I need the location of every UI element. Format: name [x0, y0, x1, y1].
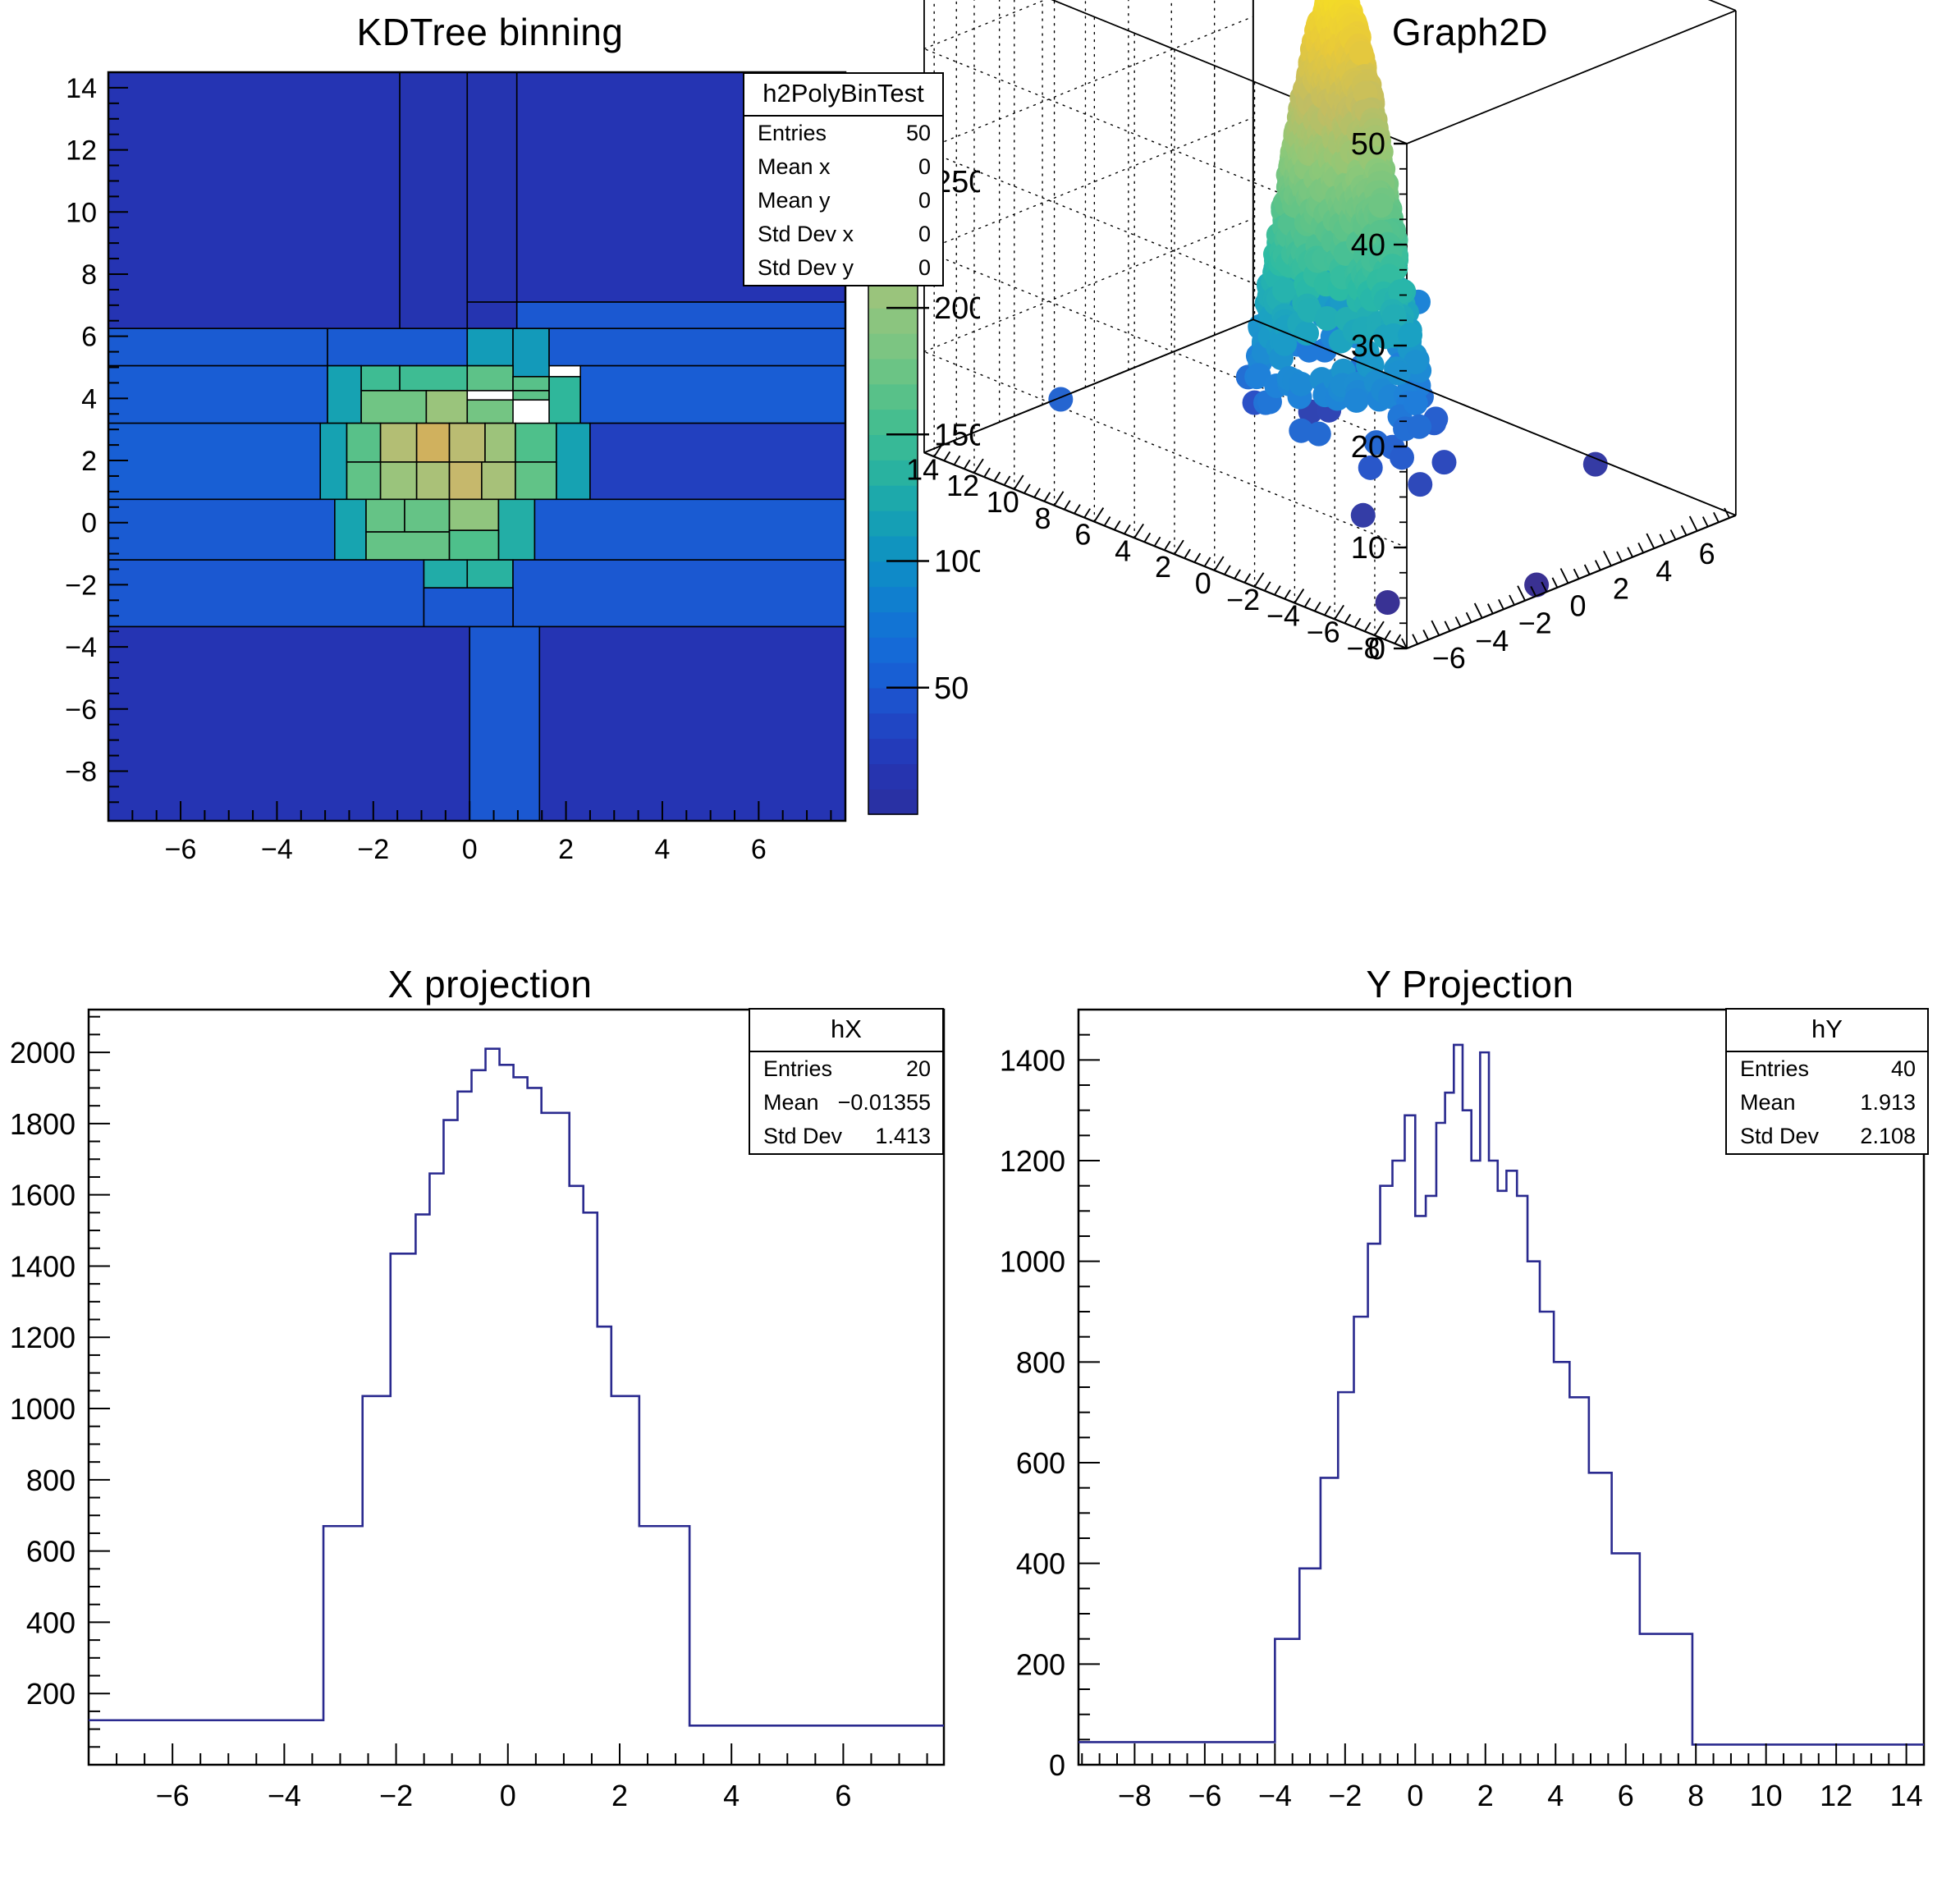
- axis-tick-label: 30: [1351, 329, 1385, 364]
- stats-value: 40: [1891, 1056, 1916, 1082]
- axis-tick-label: 1200: [10, 1321, 76, 1354]
- scatter-point: [1407, 415, 1431, 439]
- stats-row: Std Dev2.108: [1727, 1120, 1927, 1153]
- axis-tick-label: 14: [906, 452, 939, 486]
- kdtree-bin[interactable]: [400, 72, 467, 328]
- axis-tick-label: 6: [1699, 537, 1715, 570]
- kdtree-bin[interactable]: [513, 391, 549, 400]
- palette-tick-label: 150: [934, 418, 986, 452]
- kdtree-bin[interactable]: [347, 424, 381, 462]
- axis-tick-label: 1000: [10, 1392, 76, 1426]
- stats-key: Std Dev x: [758, 222, 854, 247]
- kdtree-bin[interactable]: [424, 588, 513, 626]
- y-axis: 200400600800100012001400160018002000: [10, 1017, 110, 1765]
- kdtree-bin[interactable]: [450, 499, 499, 530]
- axis-tick-label: −4: [1258, 1779, 1292, 1812]
- scatter-point: [1583, 452, 1608, 477]
- scatter-point: [1351, 503, 1376, 528]
- stats-value: 1.913: [1860, 1090, 1916, 1115]
- stats-box-h2polybintest[interactable]: h2PolyBinTest Entries50Mean x0Mean y0Std…: [743, 72, 944, 286]
- axis-tick-label: 6: [1074, 518, 1091, 552]
- axis-tick-label: 1200: [1000, 1144, 1065, 1178]
- kdtree-bin[interactable]: [513, 377, 549, 391]
- kdtree-bin[interactable]: [450, 530, 499, 560]
- scatter-point: [1398, 323, 1422, 347]
- axis-tick-label: 12: [66, 135, 97, 167]
- palette-swatch: [868, 359, 918, 385]
- stats-value: −0.01355: [838, 1090, 931, 1115]
- axis-tick-label: 2: [611, 1779, 628, 1812]
- axis-tick-label: 0: [81, 508, 97, 539]
- kdtree-bin[interactable]: [366, 532, 450, 560]
- kdtree-bin[interactable]: [335, 499, 366, 560]
- stats-row: Mean x0: [744, 150, 942, 184]
- axis-tick-label: −8: [1118, 1779, 1152, 1812]
- graph2d-plot-svg: 01020304050−8−6−4−202468101214−6−4−20246: [980, 0, 1960, 950]
- kdtree-bin[interactable]: [467, 560, 513, 588]
- kdtree-bin[interactable]: [327, 366, 361, 424]
- axis-tick-label: −8: [1346, 631, 1380, 665]
- stats-key: Mean: [1740, 1090, 1796, 1115]
- axis-tick-label: 1000: [1000, 1245, 1065, 1279]
- kdtree-bin[interactable]: [108, 328, 327, 365]
- kdtree-bin[interactable]: [327, 328, 467, 365]
- axis-tick-label: 0: [1569, 589, 1586, 623]
- axis-tick-label: 8: [1688, 1779, 1704, 1812]
- axis-tick-label: −2: [1518, 607, 1552, 640]
- kdtree-bin[interactable]: [450, 462, 482, 499]
- axis-tick-label: −2: [357, 834, 389, 865]
- palette-swatch: [868, 511, 918, 537]
- y-axis: 0200400600800100012001400: [1000, 1010, 1100, 1782]
- palette-swatch: [868, 409, 918, 435]
- axis-tick-label: 12: [946, 469, 979, 502]
- axis-tick-label: 14: [66, 73, 97, 104]
- axis-tick-label: −2: [379, 1779, 413, 1812]
- axis-tick-label: −6: [1307, 615, 1340, 648]
- axis-tick-label: 6: [81, 322, 97, 353]
- pad-kdtree-binning[interactable]: KDTree binning −8−6−4−202468101214−6−4−2…: [0, 0, 980, 950]
- kdtree-bin[interactable]: [534, 499, 845, 560]
- kdtree-bin[interactable]: [517, 302, 845, 328]
- kdtree-bin[interactable]: [549, 377, 580, 424]
- axis-tick-label: 800: [26, 1464, 76, 1497]
- axis-tick-label: −2: [65, 570, 97, 601]
- axis-tick-label: −4: [268, 1779, 301, 1812]
- kdtree-bin[interactable]: [405, 499, 450, 532]
- axis-tick-label: 2: [1613, 571, 1629, 605]
- stats-row: Entries50: [744, 117, 942, 150]
- palette-swatch: [868, 789, 918, 815]
- kdtree-bin[interactable]: [108, 72, 400, 328]
- palette-swatch: [868, 637, 918, 663]
- scatter-point: [1368, 193, 1393, 218]
- kdtree-bin[interactable]: [108, 499, 335, 560]
- palette-swatch: [868, 308, 918, 334]
- kdtree-bins: [108, 72, 845, 821]
- kdtree-bin[interactable]: [467, 366, 513, 391]
- scatter-point: [1408, 472, 1432, 497]
- stats-value: 0: [918, 222, 931, 247]
- axis-tick-label: −6: [65, 694, 97, 726]
- kdtree-bin[interactable]: [467, 302, 516, 328]
- palette-swatch: [868, 485, 918, 511]
- axis-tick-label: 0: [500, 1779, 516, 1812]
- axis-tick-label: 4: [81, 383, 97, 415]
- palette-swatch: [868, 763, 918, 790]
- kdtree-bin[interactable]: [417, 424, 450, 462]
- stats-key: Entries: [758, 121, 827, 146]
- stats-box-hx[interactable]: hX Entries20Mean−0.01355Std Dev1.413: [749, 1008, 944, 1155]
- kdtree-bin[interactable]: [467, 72, 516, 302]
- palette-swatch: [868, 561, 918, 588]
- stats-row: Std Dev1.413: [750, 1120, 942, 1153]
- axis-tick-label: 800: [1016, 1345, 1065, 1379]
- axis-tick-label: 2: [558, 834, 574, 865]
- kdtree-bin[interactable]: [515, 424, 556, 462]
- stats-row: Mean−0.01355: [750, 1086, 942, 1120]
- axis-tick-label: 2: [1477, 1779, 1494, 1812]
- stats-key: Entries: [1740, 1056, 1809, 1082]
- axis-tick-label: 1800: [10, 1107, 76, 1141]
- stats-row: Mean1.913: [1727, 1086, 1927, 1120]
- stats-value: 50: [906, 121, 931, 146]
- stats-value: 2.108: [1860, 1124, 1916, 1149]
- axis-tick-label: 2000: [10, 1036, 76, 1070]
- axis-tick-label: −6: [1188, 1779, 1221, 1812]
- y-axis: −8−6−4−202468101214: [906, 442, 1407, 665]
- axis-tick-label: 600: [1016, 1446, 1065, 1480]
- axis-tick-label: 1600: [10, 1179, 76, 1212]
- palette-swatch: [868, 586, 918, 612]
- axis-tick-label: 10: [1750, 1779, 1783, 1812]
- stats-row: Entries20: [750, 1052, 942, 1086]
- axis-tick-label: 4: [655, 834, 671, 865]
- kdtree-bin[interactable]: [556, 424, 590, 500]
- palette-swatch: [868, 662, 918, 689]
- axis-tick-label: 4: [1655, 554, 1672, 588]
- axis-tick-label: 4: [1115, 534, 1131, 567]
- palette-swatch: [868, 536, 918, 562]
- kdtree-bin[interactable]: [366, 499, 405, 532]
- palette-tick-label: 100: [934, 545, 986, 579]
- kdtree-bin[interactable]: [108, 366, 327, 424]
- stats-key: Mean y: [758, 188, 831, 213]
- palette-swatch: [868, 384, 918, 410]
- kdtree-bin[interactable]: [450, 424, 485, 462]
- kdtree-bin[interactable]: [108, 424, 320, 500]
- kdtree-bin[interactable]: [361, 391, 426, 424]
- axis-tick-label: −2: [1328, 1779, 1362, 1812]
- axis-tick-label: 0: [1407, 1779, 1423, 1812]
- axis-tick-label: −4: [1475, 624, 1509, 657]
- palette-swatch: [868, 738, 918, 764]
- axis-tick-label: −4: [261, 834, 293, 865]
- axis-tick-label: 6: [835, 1779, 851, 1812]
- axis-tick-label: 600: [26, 1535, 76, 1569]
- pad-x-projection[interactable]: X projection 200400600800100012001400160…: [0, 950, 980, 1901]
- axis-tick-label: 0: [462, 834, 478, 865]
- axis-tick-label: 10: [987, 485, 1019, 519]
- axis-tick-label: 50: [1351, 127, 1385, 162]
- stats-key: Std Dev: [1740, 1124, 1819, 1149]
- axis-tick-label: −6: [1432, 641, 1466, 675]
- axis-tick-label: 1400: [10, 1249, 76, 1283]
- kdtree-bin[interactable]: [108, 560, 424, 626]
- axis-tick-label: 8: [81, 259, 97, 291]
- scatter-point: [1349, 41, 1374, 66]
- kdtree-bin[interactable]: [426, 391, 467, 424]
- kdtree-bin[interactable]: [361, 366, 400, 391]
- kdtree-bin[interactable]: [424, 560, 467, 588]
- kdtree-bin[interactable]: [467, 328, 513, 365]
- axis-tick-label: 4: [1547, 1779, 1564, 1812]
- axis-tick-label: 20: [1351, 430, 1385, 465]
- stats-value: 0: [918, 255, 931, 281]
- axis-tick-label: −6: [156, 1779, 190, 1812]
- kdtree-bin[interactable]: [417, 462, 450, 499]
- stats-row: Std Dev y0: [744, 251, 942, 285]
- axis-tick-label: 40: [1351, 228, 1385, 263]
- scatter-point: [1289, 372, 1313, 396]
- axis-tick-label: 2: [81, 446, 97, 477]
- kdtree-bin[interactable]: [381, 462, 417, 499]
- kdtree-bin[interactable]: [482, 462, 515, 499]
- kdtree-bin[interactable]: [469, 626, 539, 821]
- palette-tick-label: 50: [934, 671, 969, 706]
- kdtree-bin[interactable]: [400, 366, 467, 391]
- palette-swatch: [868, 713, 918, 740]
- axis-tick-label: 200: [1016, 1647, 1065, 1681]
- stats-key: Std Dev: [763, 1124, 842, 1149]
- stats-title: hY: [1727, 1010, 1927, 1052]
- stats-title: hX: [750, 1010, 942, 1052]
- axis-tick-label: 6: [1618, 1779, 1634, 1812]
- x-axis: −8−6−4−202468101214: [1082, 1743, 1924, 1812]
- kdtree-bin[interactable]: [108, 626, 469, 821]
- axis-tick-label: 400: [26, 1606, 76, 1639]
- stats-value: 0: [918, 188, 931, 213]
- stats-row: Entries40: [1727, 1052, 1927, 1086]
- scatter-point: [1390, 445, 1414, 470]
- axis-tick-label: 12: [1820, 1779, 1852, 1812]
- axis-tick-label: 4: [723, 1779, 740, 1812]
- axis-tick-label: 8: [1035, 502, 1051, 535]
- scatter-point: [1307, 422, 1331, 447]
- kdtree-bin[interactable]: [347, 462, 381, 499]
- kdtree-bin[interactable]: [549, 328, 845, 365]
- stats-rows: Entries50Mean x0Mean y0Std Dev x0Std Dev…: [744, 117, 942, 285]
- kdtree-bin[interactable]: [515, 462, 556, 499]
- kdtree-bin[interactable]: [381, 424, 417, 462]
- x-axis: −6−4−20246: [1402, 508, 1736, 675]
- axis-tick-label: −4: [65, 632, 97, 663]
- kdtree-bin[interactable]: [590, 424, 845, 500]
- root-canvas: KDTree binning −8−6−4−202468101214−6−4−2…: [0, 0, 1960, 1901]
- scatter-point: [1048, 387, 1073, 412]
- axis-tick-label: 0: [1195, 566, 1211, 600]
- kdtree-bin[interactable]: [539, 626, 845, 821]
- stats-title: h2PolyBinTest: [744, 74, 942, 117]
- scatter-markers: [1048, 0, 1607, 615]
- palette-swatch: [868, 612, 918, 638]
- stats-key: Entries: [763, 1056, 832, 1082]
- scatter-point: [1376, 590, 1400, 615]
- axis-tick-label: 2: [1155, 550, 1171, 584]
- kdtree-bin[interactable]: [498, 499, 534, 560]
- kdtree-bin[interactable]: [513, 328, 549, 377]
- kdtree-bin[interactable]: [320, 424, 346, 500]
- palette-tick-label: 200: [934, 291, 986, 326]
- kdtree-bin[interactable]: [580, 366, 845, 424]
- axis-tick-label: 6: [751, 834, 767, 865]
- stats-rows: Entries20Mean−0.01355Std Dev1.413: [750, 1052, 942, 1153]
- axis-tick-label: −2: [1226, 583, 1260, 616]
- x-axis: −6−4−20246: [89, 1743, 927, 1812]
- axis-tick-label: 200: [26, 1677, 76, 1711]
- axis-tick-label: 14: [1890, 1779, 1923, 1812]
- scatter-point: [1404, 391, 1428, 415]
- axis-tick-label: 1400: [1000, 1043, 1065, 1077]
- stats-value: 0: [918, 154, 931, 180]
- axis-tick-label: 0: [1049, 1748, 1065, 1782]
- stats-box-hy[interactable]: hY Entries40Mean1.913Std Dev2.108: [1725, 1008, 1929, 1155]
- scatter-point: [1431, 450, 1456, 474]
- palette-swatch: [868, 688, 918, 714]
- kdtree-bin[interactable]: [467, 400, 513, 423]
- axis-tick-label: −6: [165, 834, 197, 865]
- scatter-point: [1344, 388, 1369, 413]
- axis-tick-label: 10: [66, 197, 97, 228]
- pad-graph2d[interactable]: Graph2D 01020304050−8−6−4−202468101214−6…: [980, 0, 1960, 950]
- kdtree-bin[interactable]: [513, 560, 845, 626]
- stats-key: Mean x: [758, 154, 831, 180]
- axis-tick-label: −4: [1266, 599, 1300, 633]
- stats-key: Std Dev y: [758, 255, 854, 281]
- stats-value: 1.413: [875, 1124, 931, 1149]
- stats-value: 20: [906, 1056, 931, 1082]
- axis-tick-label: 10: [1351, 531, 1385, 566]
- axis-tick-label: −8: [65, 756, 97, 787]
- palette-swatch: [868, 333, 918, 360]
- stats-row: Mean y0: [744, 184, 942, 218]
- stats-row: Std Dev x0: [744, 218, 942, 251]
- stats-key: Mean: [763, 1090, 819, 1115]
- axis-tick-label: 400: [1016, 1547, 1065, 1581]
- kdtree-bin[interactable]: [485, 424, 515, 462]
- pad-y-projection[interactable]: Y Projection 0200400600800100012001400−8…: [980, 950, 1960, 1901]
- stats-rows: Entries40Mean1.913Std Dev2.108: [1727, 1052, 1927, 1153]
